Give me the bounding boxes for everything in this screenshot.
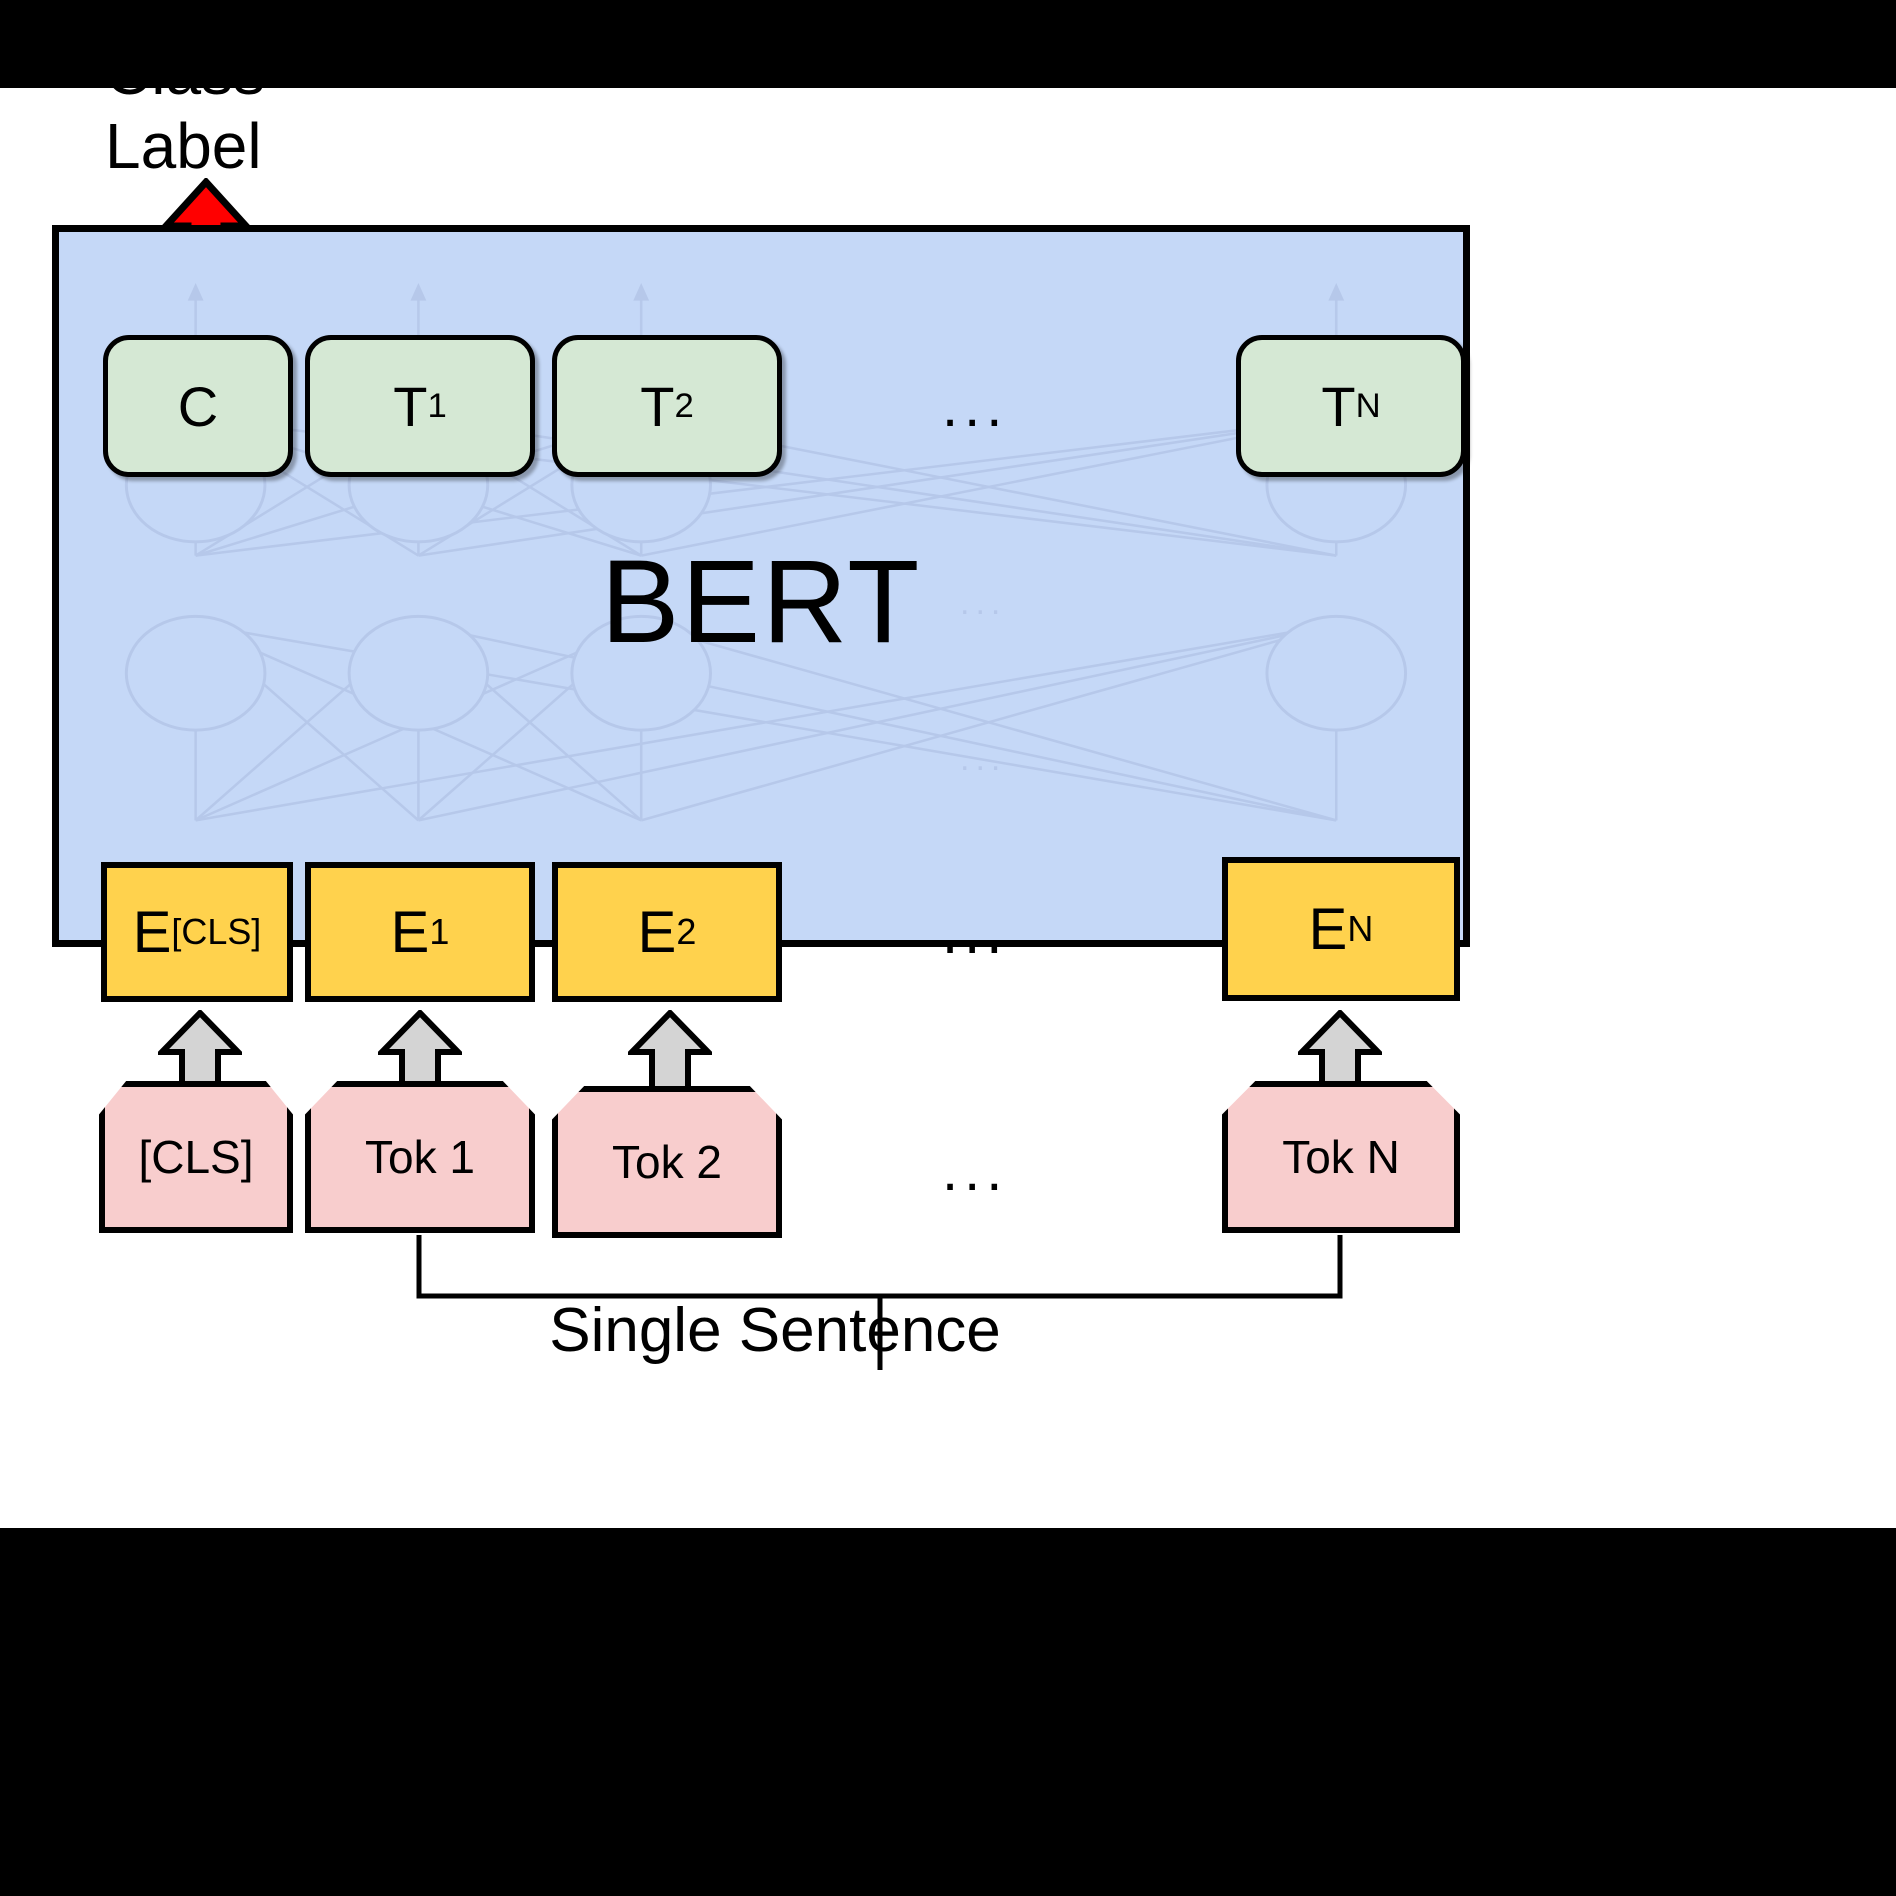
output-token-c[interactable]: C: [103, 335, 293, 477]
hidden-lower-ellipsis: ...: [960, 742, 1006, 776]
embedding-e-cls-sub: [CLS]: [171, 911, 261, 953]
embedding-e2-sub: 2: [676, 911, 696, 953]
embedding-e2[interactable]: E2: [552, 862, 782, 1002]
bert-encoder-panel: BERT: [52, 225, 1470, 947]
output-token-tn[interactable]: TN: [1236, 335, 1466, 477]
embedding-e-cls[interactable]: E[CLS]: [101, 862, 293, 1002]
output-token-tn-sub: N: [1356, 387, 1381, 426]
output-token-t1-label: T: [393, 374, 427, 439]
output-token-t2-label: T: [640, 374, 674, 439]
output-token-t1-sub: 1: [427, 387, 446, 426]
single-sentence-caption: Single Sentence: [0, 1295, 1550, 1366]
token-2-label: Tok 2: [612, 1135, 722, 1189]
embedding-e-cls-label: E: [133, 899, 172, 966]
bert-model-label: BERT: [59, 534, 1463, 670]
embedding-en-label: E: [1309, 896, 1348, 963]
embedding-en-sub: N: [1347, 908, 1373, 950]
token-1-label: Tok 1: [365, 1130, 475, 1184]
embedding-e2-label: E: [638, 899, 677, 966]
output-token-t2[interactable]: T2: [552, 335, 782, 477]
output-token-t2-sub: 2: [674, 387, 693, 426]
token-cls-label: [CLS]: [138, 1130, 253, 1184]
embedding-row-ellipsis: ...: [942, 905, 1008, 963]
hidden-upper-ellipsis: ...: [960, 586, 1006, 620]
token-row-ellipsis: ...: [942, 1142, 1008, 1200]
output-row-ellipsis: ...: [942, 378, 1008, 436]
token-n-label: Tok N: [1282, 1130, 1400, 1184]
output-token-t1[interactable]: T1: [305, 335, 535, 477]
embedding-e1-sub: 1: [429, 911, 449, 953]
token-n[interactable]: Tok N: [1222, 1081, 1460, 1233]
token-2[interactable]: Tok 2: [552, 1086, 782, 1238]
embedding-e1[interactable]: E1: [305, 862, 535, 1002]
token-cls[interactable]: [CLS]: [99, 1081, 293, 1233]
output-token-c-label: C: [178, 374, 218, 439]
embedding-e1-label: E: [391, 899, 430, 966]
output-token-tn-label: T: [1321, 374, 1355, 439]
figure-canvas: Class Label: [0, 0, 1896, 1896]
token-1[interactable]: Tok 1: [305, 1081, 535, 1233]
embedding-en[interactable]: EN: [1222, 857, 1460, 1001]
class-label-text: Class Label: [105, 36, 405, 183]
